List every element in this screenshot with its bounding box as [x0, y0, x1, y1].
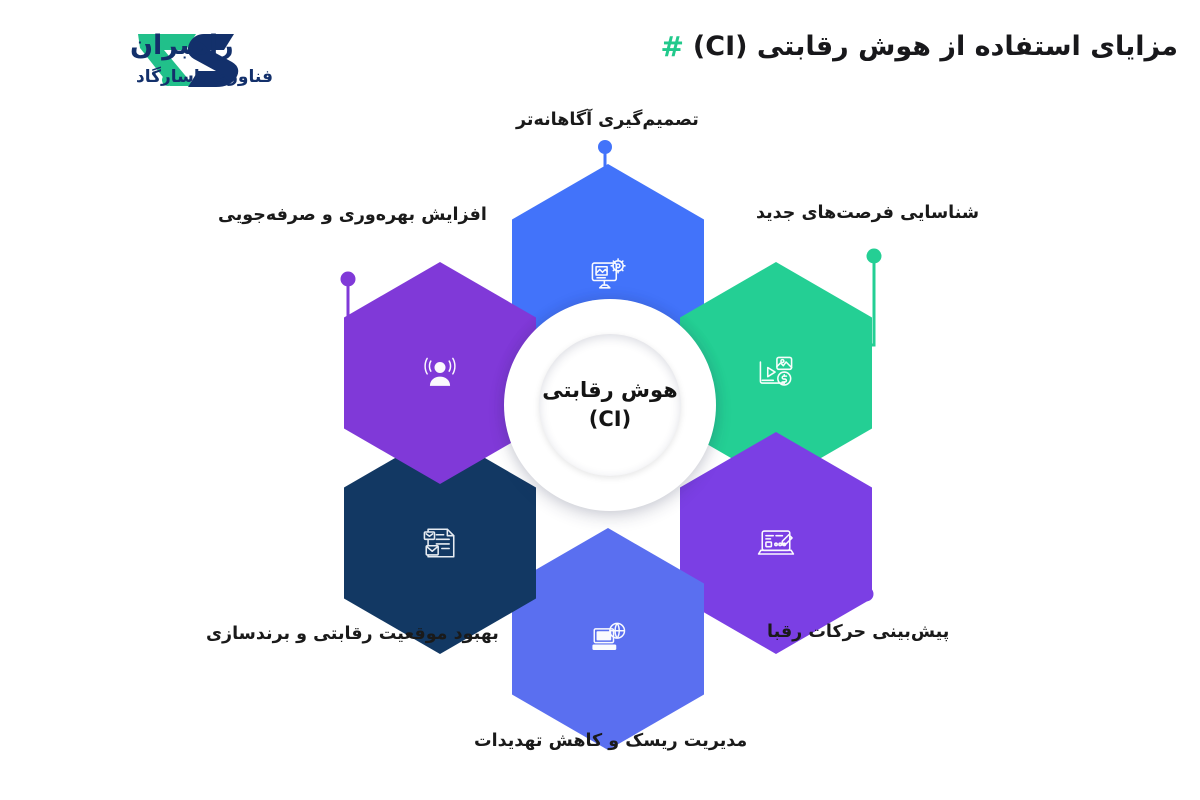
- monitor-gear-icon: [586, 253, 630, 297]
- person-signal-icon: [418, 351, 462, 395]
- page-title-text: مزایای استفاده از هوش رقابتی (CI): [693, 31, 1178, 62]
- infographic-canvas: راهبران فناوری پاسارگاد # مزایای استفاده…: [0, 0, 1200, 800]
- center-line-2: (CI): [589, 405, 631, 434]
- label-productivity-savings: افزایش بهره‌وری و صرفه‌جویی: [218, 205, 487, 225]
- hex-risk-management[interactable]: [512, 528, 704, 750]
- laptop-pencil-icon: [754, 521, 798, 565]
- brand-tagline: فناوری پاسارگاد: [136, 66, 273, 87]
- center-label: هوش رقابتی (CI): [539, 334, 681, 476]
- label-risk-management: مدیریت ریسک و کاهش تهدیدات: [474, 731, 747, 751]
- hex-productivity-savings[interactable]: [344, 262, 536, 484]
- label-informed-decisions: تصمیم‌گیری آگاهانه‌تر: [516, 110, 699, 130]
- hex-predict-competitors[interactable]: [680, 432, 872, 654]
- label-brand-positioning: بهبود موقعیت رقابتی و برندسازی: [206, 624, 499, 644]
- label-predict-competitors: پیش‌بینی حرکات رقبا: [767, 622, 949, 642]
- media-dollar-icon: [754, 351, 798, 395]
- brand-logo: راهبران فناوری پاسارگاد: [18, 10, 278, 102]
- laptop-globe-icon: [586, 617, 630, 661]
- brand-name: راهبران: [130, 30, 234, 61]
- center-line-1: هوش رقابتی: [542, 376, 677, 405]
- page-title: # مزایای استفاده از هوش رقابتی (CI): [660, 30, 1178, 63]
- hash-icon: #: [660, 30, 683, 63]
- document-mail-icon: [418, 521, 462, 565]
- label-new-opportunities: شناسایی فرصت‌های جدید: [756, 203, 979, 223]
